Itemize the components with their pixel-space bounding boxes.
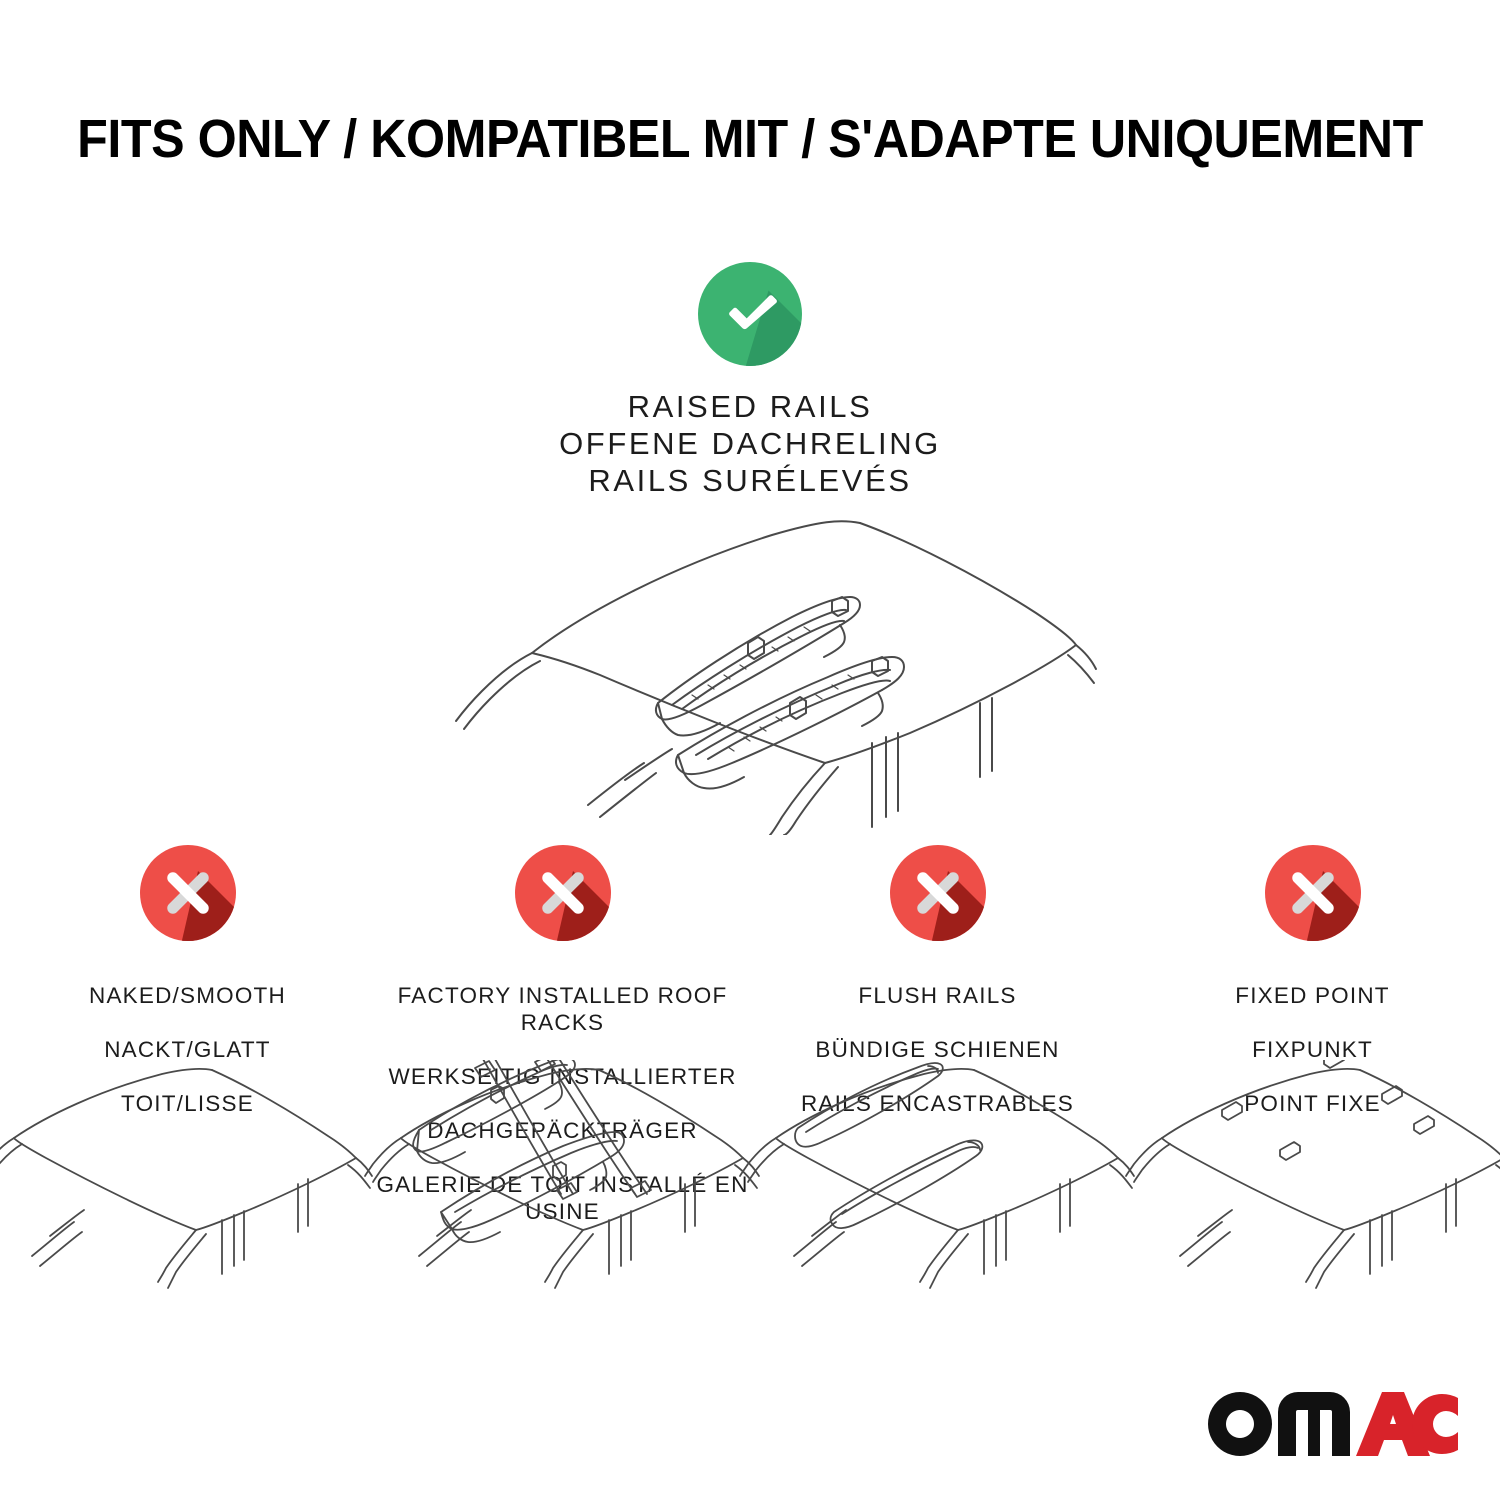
caption-line-de: NACKT/GLATT [89, 1036, 286, 1063]
caption-line-en: FLUSH RAILS [801, 982, 1074, 1009]
logo-letter-o [1208, 1392, 1272, 1456]
check-badge-wrap [698, 262, 802, 366]
caption-line-en: FIXED POINT [1235, 982, 1389, 1009]
x-badge-wrap-3 [890, 845, 986, 941]
caption-line-de: FIXPUNKT [1235, 1036, 1389, 1063]
x-badge-wrap-4 [1265, 845, 1361, 941]
car-roof-factory-roof-rack-illustration [363, 1060, 763, 1310]
car-roof-flush-rails-illustration [738, 1060, 1138, 1310]
compatible-section: RAISED RAILS OFFENE DACHRELING RAILS SUR… [0, 262, 1500, 499]
incompatible-section: NAKED/SMOOTH NACKT/GLATT TOIT/LISSE [0, 845, 1500, 1315]
incompatible-item-factory-roof-rack: FACTORY INSTALLED ROOF RACKS WERKSEITIG … [375, 845, 750, 1315]
incompatible-item-naked-smooth: NAKED/SMOOTH NACKT/GLATT TOIT/LISSE [0, 845, 375, 1315]
page-title: FITS ONLY / KOMPATIBEL MIT / S'ADAPTE UN… [53, 108, 1448, 170]
x-badge-wrap-2 [515, 845, 611, 941]
car-roof-naked-smooth-illustration [0, 1060, 376, 1310]
incompatible-item-flush-rails: FLUSH RAILS BÜNDIGE SCHIENEN RAILS ENCAS… [750, 845, 1125, 1315]
check-circle-icon [698, 262, 802, 366]
omac-logo [1208, 1390, 1458, 1458]
caption-line-en: FACTORY INSTALLED ROOF RACKS [375, 982, 750, 1036]
caption-line-en: NAKED/SMOOTH [89, 982, 286, 1009]
x-circle-icon [140, 845, 236, 941]
x-badge-wrap-1 [140, 845, 236, 941]
compatible-caption-line-de: OFFENE DACHRELING [0, 425, 1500, 462]
caption-line-de: BÜNDIGE SCHIENEN [801, 1036, 1074, 1063]
logo-letter-m [1278, 1392, 1350, 1456]
compatible-caption: RAISED RAILS OFFENE DACHRELING RAILS SUR… [0, 388, 1500, 499]
fitment-compatibility-infographic: FITS ONLY / KOMPATIBEL MIT / S'ADAPTE UN… [0, 0, 1500, 1500]
car-roof-fixed-point-illustration [1124, 1060, 1500, 1310]
compatible-caption-line-fr: RAILS SURÉLEVÉS [0, 462, 1500, 499]
x-circle-icon [515, 845, 611, 941]
x-circle-icon [1265, 845, 1361, 941]
car-roof-raised-rails-illustration [420, 505, 1100, 835]
incompatible-item-fixed-point: FIXED POINT FIXPUNKT POINT FIXE [1125, 845, 1500, 1315]
compatible-caption-line-en: RAISED RAILS [0, 388, 1500, 425]
x-circle-icon [890, 845, 986, 941]
